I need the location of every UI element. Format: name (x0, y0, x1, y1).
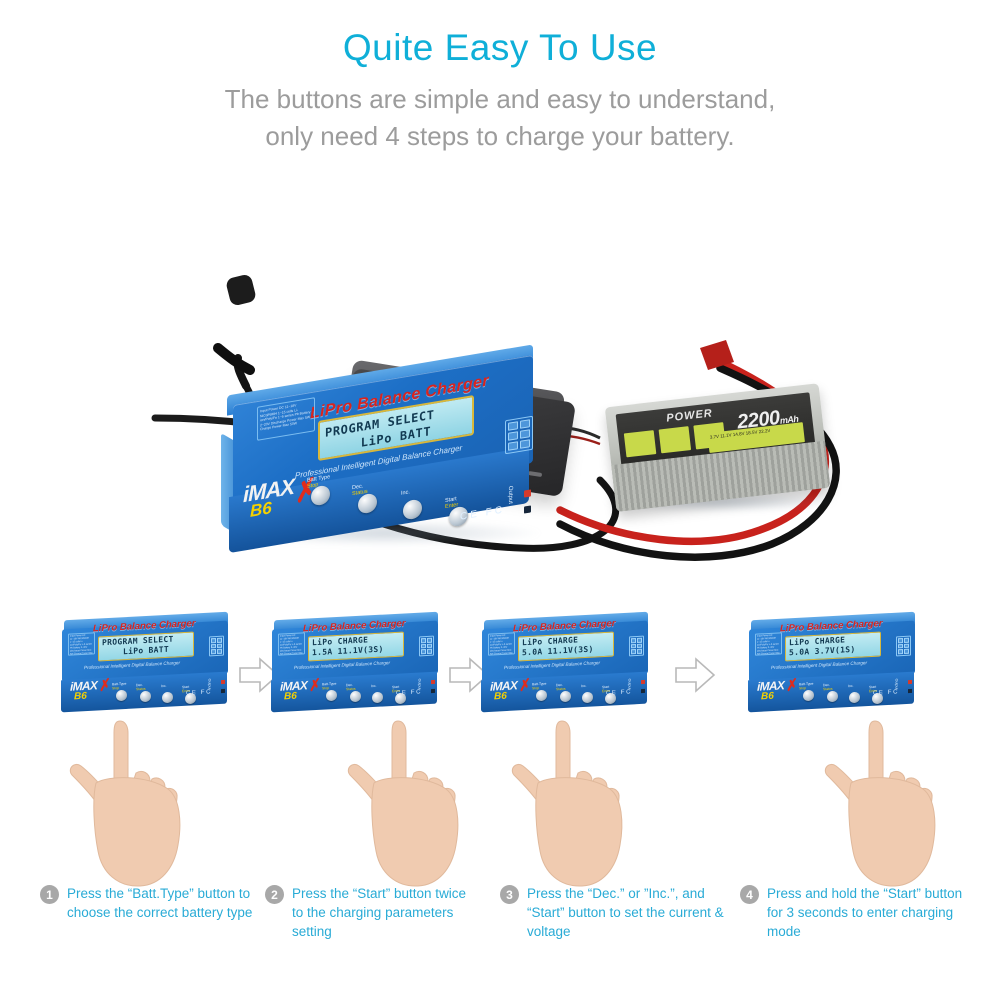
step-2-button-batt-type-label: Batt.TypeStop (322, 683, 336, 691)
caption-text-3: Press the “Dec.” or ”Inc.”, and “Start” … (527, 884, 730, 941)
step-4-output-label: Output (895, 678, 899, 689)
step-4: LiPro Balance Charger Input Power DC 11~… (745, 608, 935, 898)
step-1-led-blue (221, 689, 225, 693)
mini-charger-spec-plate: Input Power DC 11~18V NiCd/NiMH 1~15 cel… (278, 632, 305, 655)
step-badge-1: 1 (40, 885, 59, 904)
mini-charger-model-label: B6 (761, 691, 774, 703)
mini-charger-model-label: B6 (284, 691, 297, 703)
step-1-balance-ports[interactable] (209, 636, 224, 657)
step-badge-4: 4 (740, 885, 759, 904)
step-4-pointing-hand (823, 713, 973, 888)
step-2-balance-ports[interactable] (419, 636, 434, 657)
step-2: LiPro Balance Charger Input Power DC 11~… (268, 608, 458, 898)
step-3-button-inc-label: Inc. (581, 685, 586, 689)
charger-model-label: B6 (250, 498, 272, 522)
mini-charger-model-label: B6 (74, 691, 87, 703)
step-2-button-dec-label: Dec.Status (346, 684, 356, 692)
caption-text-2: Press the “Start” button twice to the ch… (292, 884, 480, 941)
step-2-button-inc-label: Inc. (371, 685, 376, 689)
step-1-output-label: Output (208, 678, 212, 689)
step-1: LiPro Balance Charger Input Power DC 11~… (58, 608, 248, 898)
step-1-lcd: PROGRAM SELECT LiPo BATT (98, 631, 194, 661)
page-title: Quite Easy To Use (0, 28, 1000, 69)
step-4-lcd: LiPo CHARGE 5.0A 3.7V(1S) (785, 631, 881, 661)
step-captions: 1 Press the “Batt.Type” button to choose… (0, 884, 1000, 964)
step-4-button-inc-label: Inc. (848, 685, 853, 689)
charger-button-start-label: StartEnter (445, 496, 458, 510)
step-4-charger: LiPro Balance Charger Input Power DC 11~… (745, 616, 917, 716)
mini-charger-spec-plate: Input Power DC 11~18V NiCd/NiMH 1~15 cel… (755, 632, 782, 655)
caption-step-2: 2 Press the “Start” button twice to the … (265, 884, 480, 941)
step-2-pointing-hand (346, 713, 496, 888)
step-3-button-batt-type-label: Batt.TypeStop (532, 683, 546, 691)
step-4-led-blue (908, 689, 912, 693)
mini-charger-spec-plate: Input Power DC 11~18V NiCd/NiMH 1~15 cel… (488, 632, 515, 655)
step-3-led-blue (641, 689, 645, 693)
step-1-led-red (221, 680, 225, 684)
battery-brand-text: POWER (666, 407, 714, 424)
main-charger-device: LiPro Balance Charger Input Power DC 11~… (215, 380, 545, 555)
step-2-led-red (431, 680, 435, 684)
step-badge-3: 3 (500, 885, 519, 904)
step-1-button-dec-label: Dec.Status (136, 684, 146, 692)
step-3-lcd: LiPo CHARGE 5.0A 11.1V(3S) (518, 631, 614, 661)
step-4-button-dec-label: Dec.Status (823, 684, 833, 692)
step-4-button-batt-type-label: Batt.TypeStop (799, 683, 813, 691)
subtitle-line-1: The buttons are simple and easy to under… (0, 81, 1000, 119)
step-3-next-arrow (674, 656, 716, 694)
subtitle-line-2: only need 4 steps to charge your battery… (0, 118, 1000, 156)
charger-led-red (524, 489, 531, 497)
page-subtitle: The buttons are simple and easy to under… (0, 81, 1000, 156)
steps-row: LiPro Balance Charger Input Power DC 11~… (0, 608, 1000, 908)
step-2-charger: LiPro Balance Charger Input Power DC 11~… (268, 616, 440, 716)
step-2-led-blue (431, 689, 435, 693)
step-1-charger: LiPro Balance Charger Input Power DC 11~… (58, 616, 230, 716)
caption-step-1: 1 Press the “Batt.Type” button to choose… (40, 884, 255, 922)
charger-led-blue (524, 505, 531, 513)
step-3-pointing-hand (510, 713, 660, 888)
mini-charger-spec-plate: Input Power DC 11~18V NiCd/NiMH 1~15 cel… (68, 632, 95, 655)
step-3-balance-ports[interactable] (629, 636, 644, 657)
caption-step-3: 3 Press the “Dec.” or ”Inc.”, and “Start… (500, 884, 730, 941)
step-1-button-inc-label: Inc. (161, 685, 166, 689)
caption-step-4: 4 Press and hold the “Start” button for … (740, 884, 970, 941)
charger-balance-ports[interactable] (505, 416, 533, 455)
step-4-led-red (908, 680, 912, 684)
charger-output-label: Output (507, 485, 513, 504)
product-infographic-page: Quite Easy To Use The buttons are simple… (0, 0, 1000, 1000)
step-3-led-red (641, 680, 645, 684)
step-1-button-batt-type-label: Batt.TypeStop (112, 683, 126, 691)
step-3-charger: LiPro Balance Charger Input Power DC 11~… (478, 616, 650, 716)
caption-text-1: Press the “Batt.Type” button to choose t… (67, 884, 255, 922)
hero-photo: LiPro Balance Charger Input Power DC 11~… (0, 180, 1000, 600)
step-4-balance-ports[interactable] (896, 636, 911, 657)
step-2-output-label: Output (418, 678, 422, 689)
caption-text-4: Press and hold the “Start” button for 3 … (767, 884, 970, 941)
step-2-lcd: LiPo CHARGE 1.5A 11.1V(3S) (308, 631, 404, 661)
step-badge-2: 2 (265, 885, 284, 904)
mini-charger-model-label: B6 (494, 691, 507, 703)
step-3: LiPro Balance Charger Input Power DC 11~… (478, 608, 668, 898)
step-3-output-label: Output (628, 678, 632, 689)
step-1-pointing-hand (68, 713, 218, 888)
step-3-button-dec-label: Dec.Status (556, 684, 566, 692)
header: Quite Easy To Use The buttons are simple… (0, 0, 1000, 156)
